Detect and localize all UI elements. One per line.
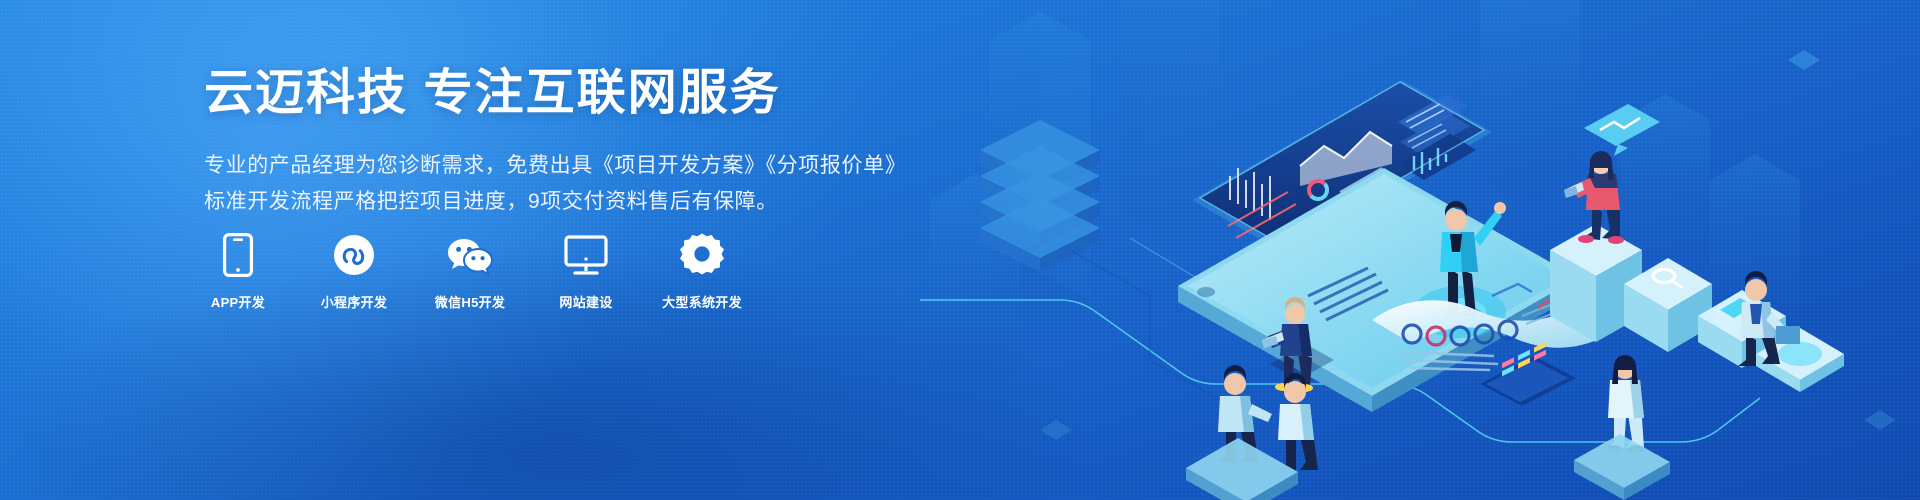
service-item-app[interactable]: APP开发 [204,233,272,311]
service-item-wechat-h5[interactable]: 微信H5开发 [436,233,504,311]
subtitle-line-1: 专业的产品经理为您诊断需求，免费出具《项目开发方案》《分项报价单》 [204,148,904,184]
hero-subtitle: 专业的产品经理为您诊断需求，免费出具《项目开发方案》《分项报价单》 标准开发流程… [204,148,904,220]
subtitle-line-2: 标准开发流程严格把控项目进度，9项交付资料售后有保障。 [204,184,904,220]
service-item-large-system[interactable]: 大型系统开发 [668,233,736,311]
gear-icon [680,233,724,277]
wechat-icon [446,233,494,277]
page-title: 云迈科技 专注互联网服务 [204,66,904,122]
service-label: APP开发 [211,292,265,311]
hero-copy: 云迈科技 专注互联网服务 专业的产品经理为您诊断需求，免费出具《项目开发方案》《… [204,66,904,220]
mini-program-icon [333,233,375,277]
service-label: 小程序开发 [321,292,388,311]
service-item-mini-program[interactable]: 小程序开发 [320,233,388,311]
service-label: 大型系统开发 [662,292,742,311]
service-label: 微信H5开发 [435,292,505,311]
hero-banner: 云迈科技 专注互联网服务 专业的产品经理为您诊断需求，免费出具《项目开发方案》《… [0,0,1920,500]
mobile-phone-icon [223,233,253,277]
monitor-icon [564,233,608,277]
service-label: 网站建设 [559,292,612,311]
service-item-website[interactable]: 网站建设 [552,233,620,311]
isometric-tech-illustration [920,0,1920,500]
service-icon-list: APP开发 小程序开发 微信 [204,233,736,311]
